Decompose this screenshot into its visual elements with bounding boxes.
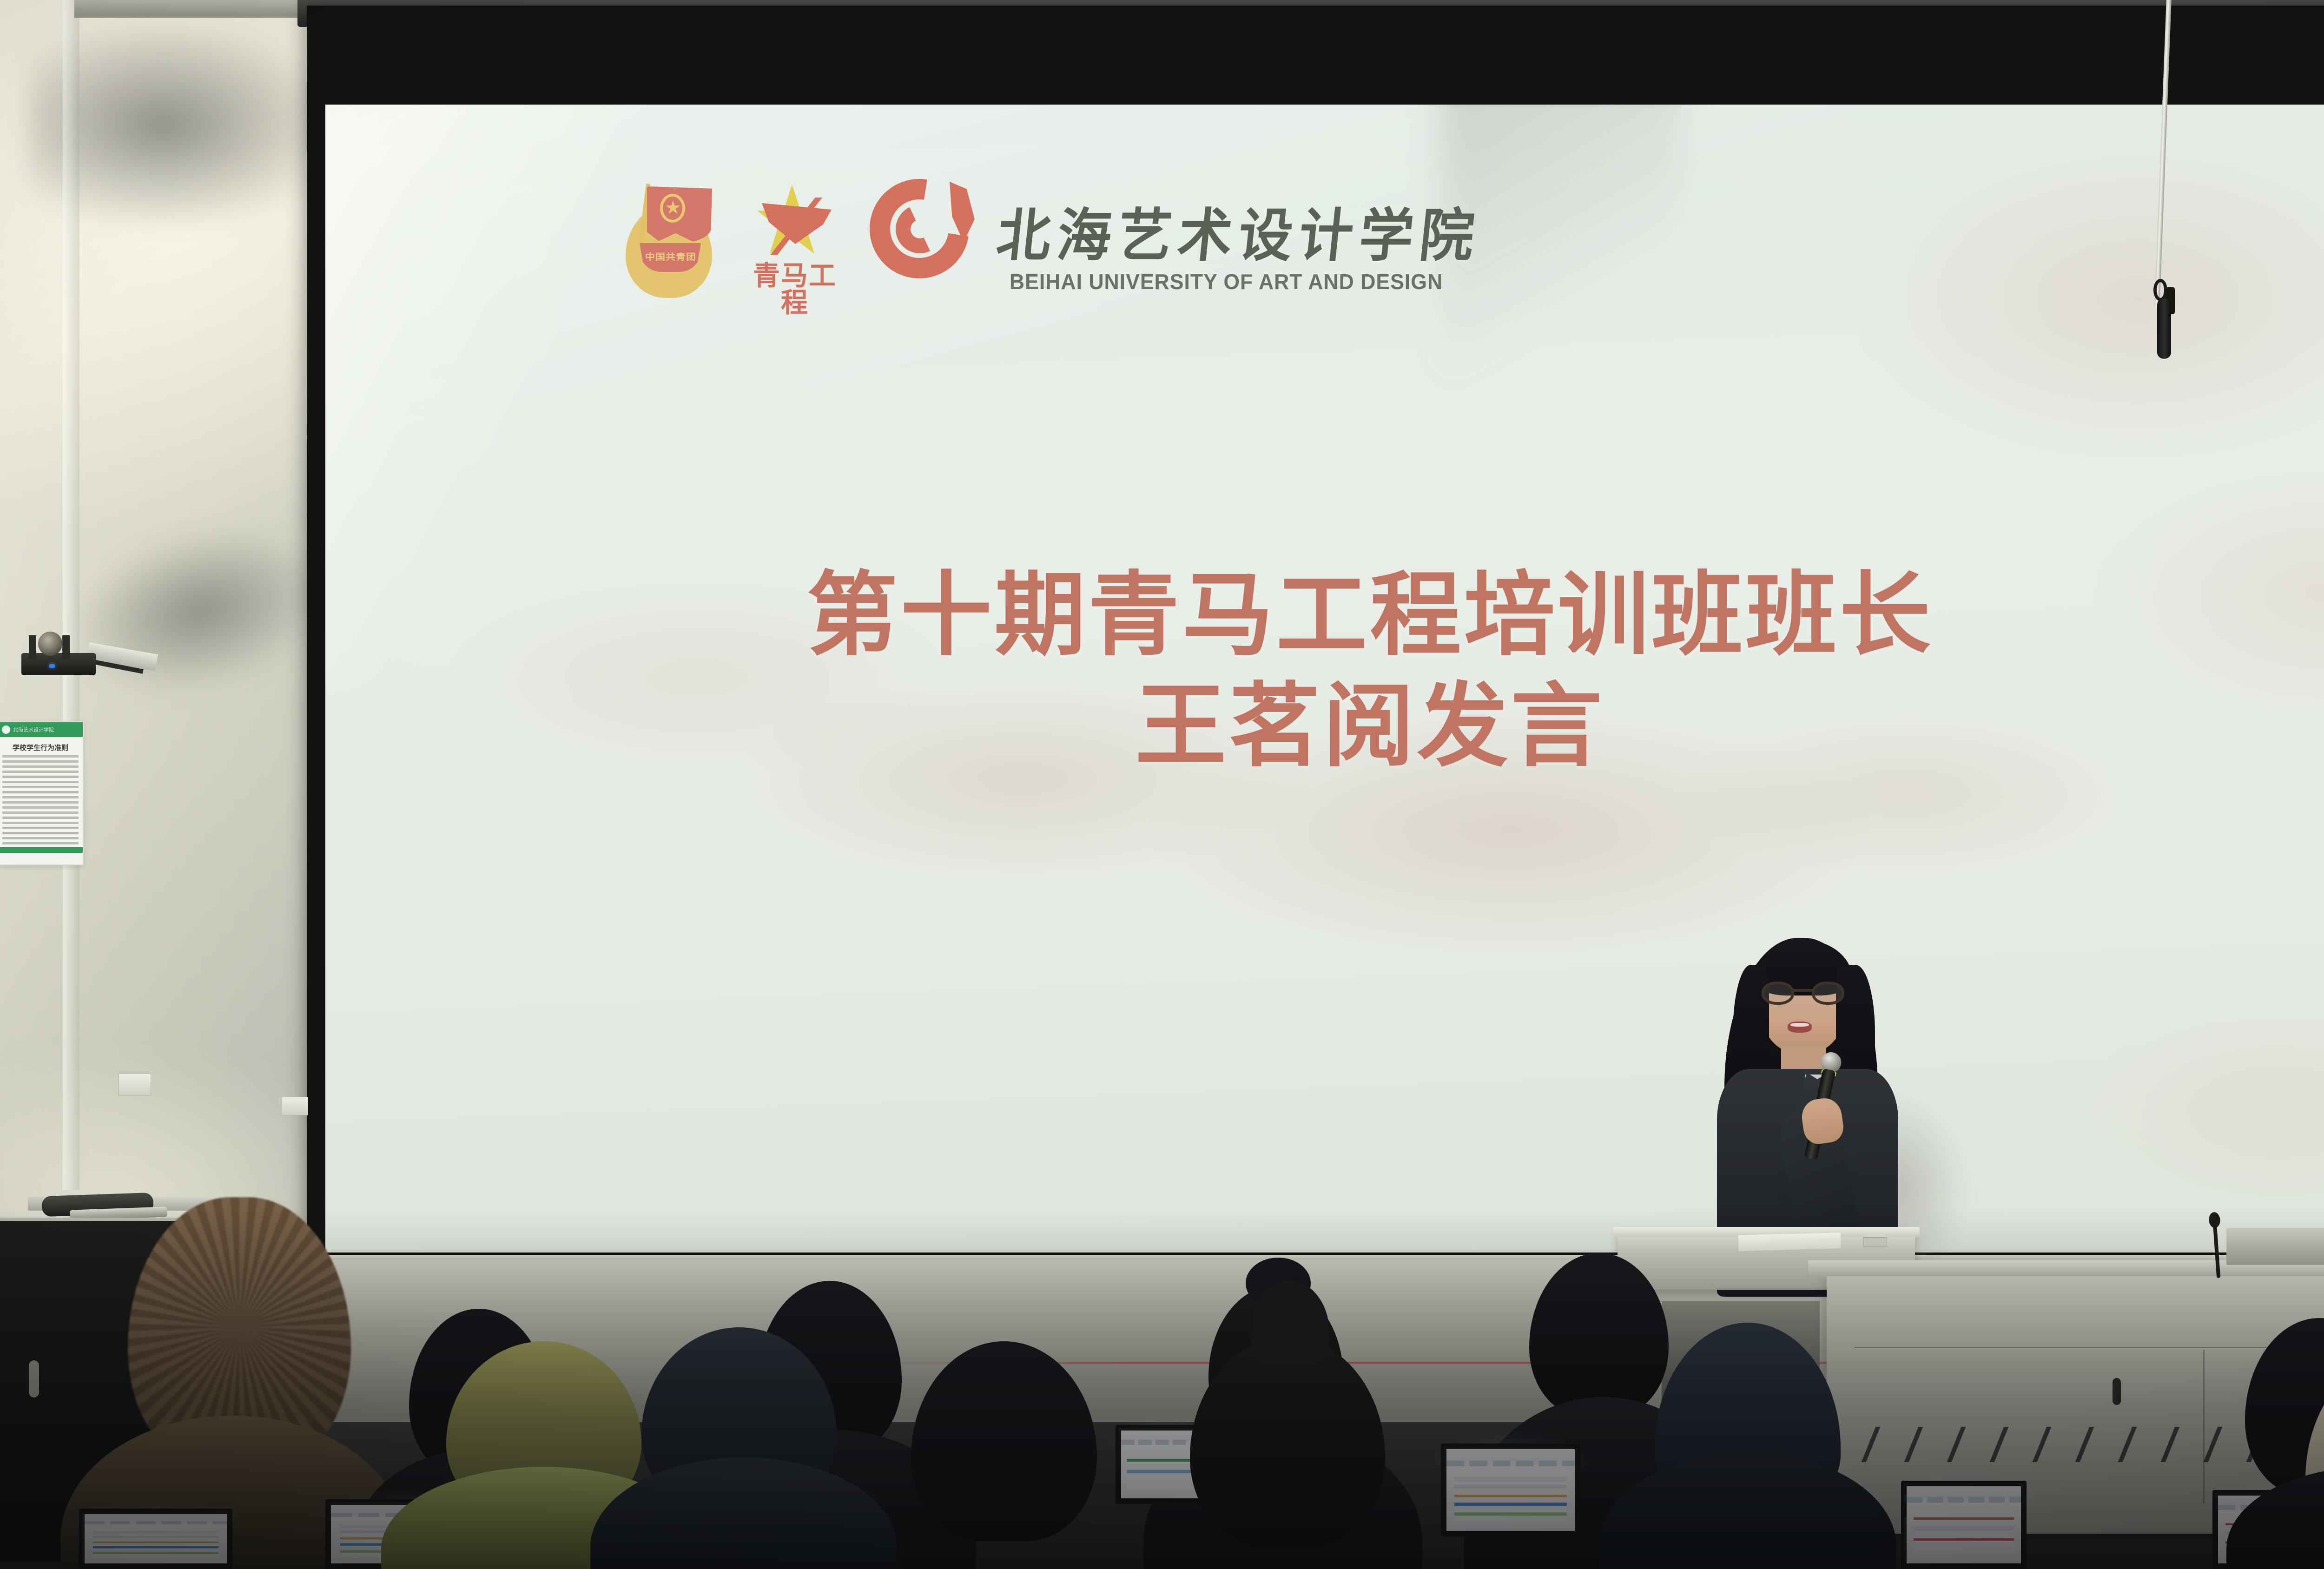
wall-plate-left-upper — [119, 1074, 151, 1096]
beihai-swirl-logo-icon — [867, 172, 978, 289]
poster-logo-icon — [2, 725, 10, 734]
wall-plate-left-lower — [281, 1097, 308, 1115]
slide-title-line2: 王茗阅发言 — [325, 671, 2324, 782]
audience-row-front — [0, 1272, 2324, 1569]
qingma-logo-label: 青马工程 — [741, 263, 848, 316]
slide-header: 中国共青团 青马工程 北海艺术设计学院 BEIHAI UNIVERSITY OF… — [623, 174, 1831, 300]
glasses-icon — [1762, 982, 1844, 1006]
poster-header-text: 北海艺术设计学院 — [13, 726, 54, 733]
pull-cord-handle[interactable] — [2151, 279, 2175, 335]
audience-shoulders — [1599, 1453, 1896, 1569]
slide-title-line1: 第十期青马工程培训班班长 — [806, 562, 1933, 668]
projected-slide: 中国共青团 青马工程 北海艺术设计学院 BEIHAI UNIVERSITY OF… — [325, 105, 2324, 1253]
audience-shoulders — [590, 1457, 897, 1569]
wall-pilaster-left — [63, 0, 79, 1190]
audience-head — [1190, 1337, 1385, 1546]
lecture-hall-scene: 中国共青团 青马工程 北海艺术设计学院 BEIHAI UNIVERSITY OF… — [0, 0, 2324, 1569]
audience-head — [911, 1341, 1097, 1541]
university-name-cn: 北海艺术设计学院 — [994, 206, 1835, 266]
poster-title: 学校学生行为准则 — [0, 737, 83, 755]
cyl-ribbon-label: 中国共青团 — [643, 251, 698, 263]
audience-ponytail — [1250, 1281, 1329, 1365]
university-wordmark: 北海艺术设计学院 BEIHAI UNIVERSITY OF ART AND DE… — [997, 208, 1831, 294]
slide-title: 第十期青马工程培训班班长 王茗阅发言 — [325, 560, 2324, 782]
poster-body-lines — [0, 755, 83, 844]
communist-youth-league-emblem-icon: 中国共青团 — [623, 184, 723, 300]
poster-header: 北海艺术设计学院 — [0, 722, 83, 737]
qingma-star-logo-icon: 青马工程 — [741, 184, 848, 300]
university-name-en: BEIHAI UNIVERSITY OF ART AND DESIGN — [1010, 269, 1819, 294]
ptz-camera-icon-left — [19, 630, 102, 681]
wall-notice-poster: 北海艺术设计学院 学校学生行为准则 — [0, 721, 84, 865]
poster-footer — [0, 847, 83, 853]
